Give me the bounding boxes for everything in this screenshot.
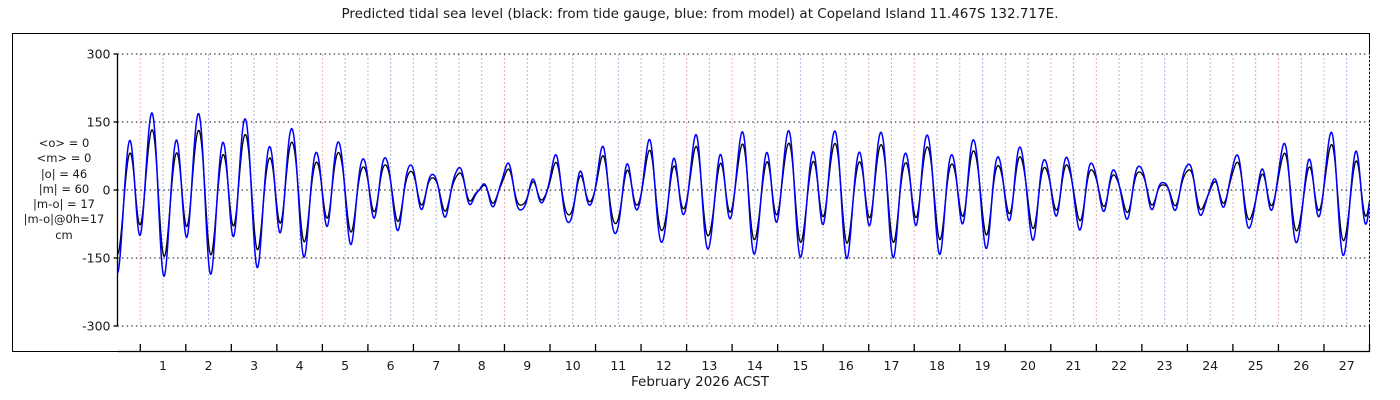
x-tick-label: 9 — [523, 358, 531, 373]
x-tick-label: 26 — [1293, 358, 1309, 373]
x-tick-label: 13 — [701, 358, 717, 373]
x-tick-label: 15 — [792, 358, 808, 373]
axis-ticks — [114, 54, 1370, 352]
y-tick-label: -150 — [82, 251, 110, 266]
x-tick-label: 4 — [296, 358, 304, 373]
x-tick-label: 12 — [656, 358, 672, 373]
y-tick-label: 0 — [103, 183, 111, 198]
tidal-plot: 3001500-150-300 123456789101112131415161… — [0, 0, 1400, 400]
axis-spines — [118, 54, 1370, 352]
y-tick-label: -300 — [82, 319, 110, 334]
horizontal-gridlines — [118, 54, 1370, 326]
x-tick-label: 14 — [747, 358, 763, 373]
y-tick-label: 300 — [87, 47, 111, 62]
x-tick-label: 7 — [432, 358, 440, 373]
x-tick-label: 25 — [1248, 358, 1264, 373]
x-tick-label: 23 — [1157, 358, 1173, 373]
x-tick-label: 16 — [838, 358, 854, 373]
x-tick-label: 20 — [1020, 358, 1036, 373]
x-tick-label: 5 — [341, 358, 349, 373]
tidal-chart-page: Predicted tidal sea level (black: from t… — [0, 0, 1400, 400]
y-tick-label: 150 — [87, 115, 111, 130]
x-axis-label: February 2026 ACST — [0, 374, 1400, 390]
x-tick-label: 21 — [1066, 358, 1082, 373]
tide-gauge-line — [118, 130, 1370, 257]
x-tick-label: 6 — [387, 358, 395, 373]
x-tick-label: 22 — [1111, 358, 1127, 373]
ytick-labels: 3001500-150-300 — [82, 47, 110, 334]
x-tick-label: 27 — [1339, 358, 1355, 373]
series-model — [118, 113, 1370, 276]
x-tick-label: 10 — [565, 358, 581, 373]
x-tick-label: 1 — [159, 358, 167, 373]
model-line — [118, 113, 1370, 276]
x-tick-label: 18 — [929, 358, 945, 373]
x-tick-label: 11 — [610, 358, 626, 373]
x-tick-label: 19 — [975, 358, 991, 373]
x-tick-label: 2 — [205, 358, 213, 373]
x-tick-label: 3 — [250, 358, 258, 373]
xtick-labels: 1234567891011121314151617181920212223242… — [159, 358, 1355, 373]
x-tick-label: 24 — [1202, 358, 1218, 373]
series-gauge — [118, 130, 1370, 257]
x-tick-label: 17 — [884, 358, 900, 373]
x-tick-label: 8 — [478, 358, 486, 373]
